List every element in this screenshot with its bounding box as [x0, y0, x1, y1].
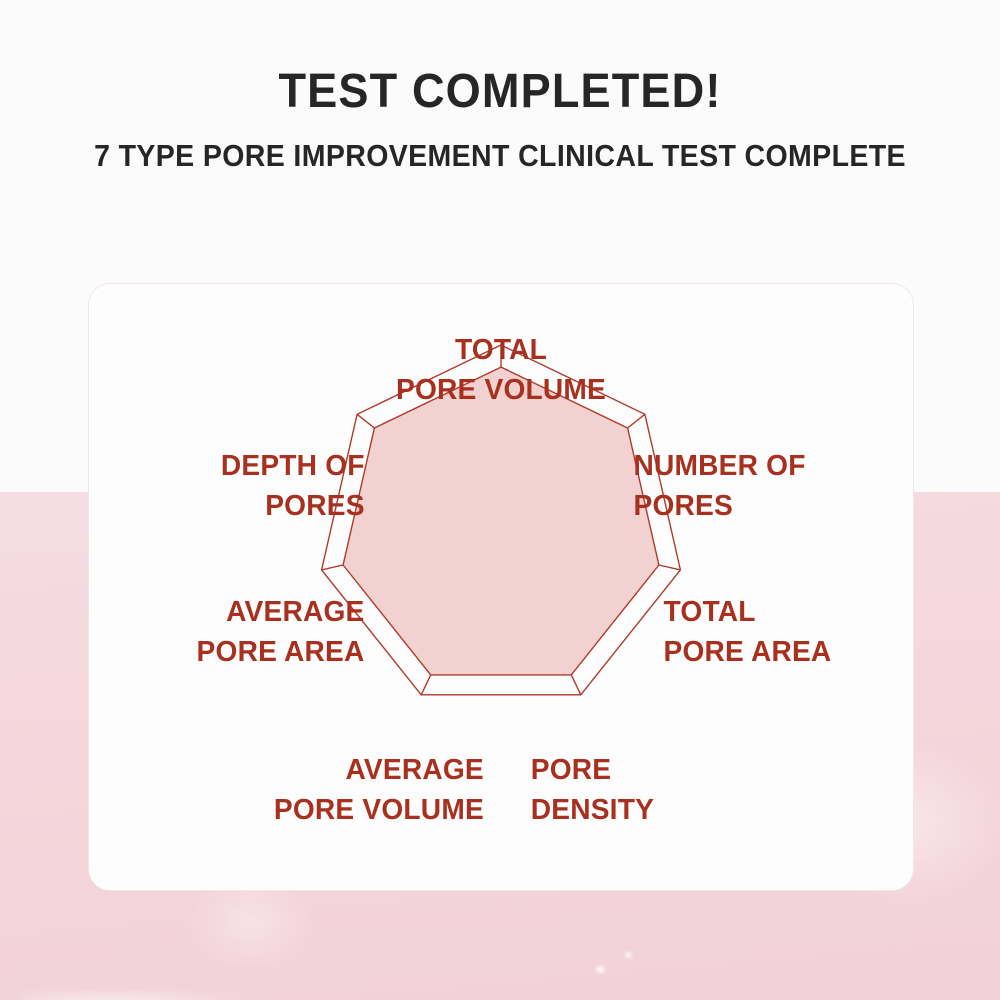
chart-card: TOTAL PORE VOLUME NUMBER OF PORES TOTAL …	[88, 283, 914, 891]
background-highlight-left	[20, 992, 250, 1000]
radar-data-polygon	[343, 367, 659, 675]
axis-label-total-pore-volume: TOTAL PORE VOLUME	[356, 331, 647, 410]
radar-spoke-3	[571, 675, 581, 695]
radar-spoke-6	[357, 414, 374, 428]
page-subtitle: 7 TYPE PORE IMPROVEMENT CLINICAL TEST CO…	[40, 116, 960, 171]
axis-label-pore-density: PORE DENSITY	[531, 751, 774, 830]
axis-label-average-pore-area: AVERAGE PORE AREA	[74, 593, 365, 672]
radar-spoke-1	[628, 414, 645, 428]
axis-label-depth-of-pores: DEPTH OF PORES	[83, 447, 364, 526]
radar-spoke-4	[421, 675, 431, 695]
radar-chart: TOTAL PORE VOLUME NUMBER OF PORES TOTAL …	[89, 284, 913, 890]
axis-label-average-pore-volume: AVERAGE PORE VOLUME	[154, 751, 484, 830]
radar-spoke-2	[659, 565, 681, 570]
radar-spoke-5	[322, 565, 344, 570]
header: TEST COMPLETED! 7 TYPE PORE IMPROVEMENT …	[0, 0, 1000, 171]
axis-label-number-of-pores: NUMBER OF PORES	[634, 447, 925, 526]
background-speck	[625, 952, 632, 958]
background-speck	[596, 966, 605, 973]
page-title: TEST COMPLETED!	[30, 0, 970, 116]
axis-label-total-pore-area: TOTAL PORE AREA	[664, 593, 955, 672]
page-root: TEST COMPLETED! 7 TYPE PORE IMPROVEMENT …	[0, 0, 1000, 1000]
